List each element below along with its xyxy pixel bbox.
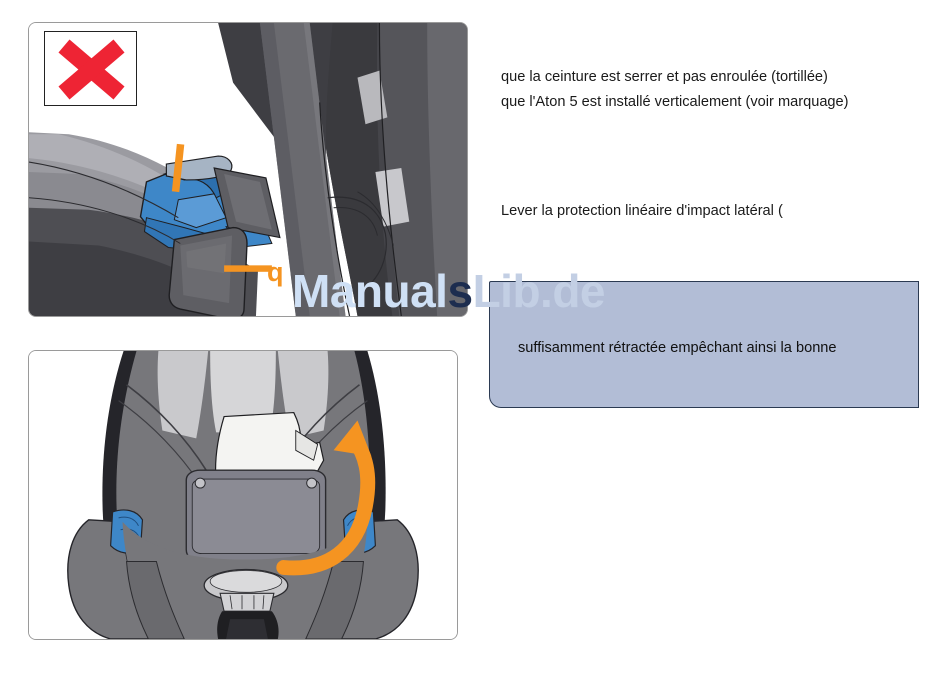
figure-top-seatbelt-buckle: q [28, 22, 468, 317]
instruction-line-1: que la ceinture est serrer et pas enroul… [501, 65, 828, 90]
note-box: suffisamment rétractée empêchant ainsi l… [489, 281, 919, 408]
instruction-line-3: Lever la protection linéaire d'impact la… [501, 199, 783, 224]
prohibition-badge-box [44, 31, 137, 106]
callout-leader-line-q [224, 265, 272, 271]
callout-label-q: q [267, 259, 284, 286]
x-mark-icon [45, 32, 138, 107]
figure-bottom-illustration [29, 351, 457, 639]
note-box-text: suffisamment rétractée empêchant ainsi l… [518, 338, 837, 358]
figure-bottom-side-impact-protection [28, 350, 458, 640]
instruction-line-2: que l'Aton 5 est installé verticalement … [501, 90, 849, 115]
